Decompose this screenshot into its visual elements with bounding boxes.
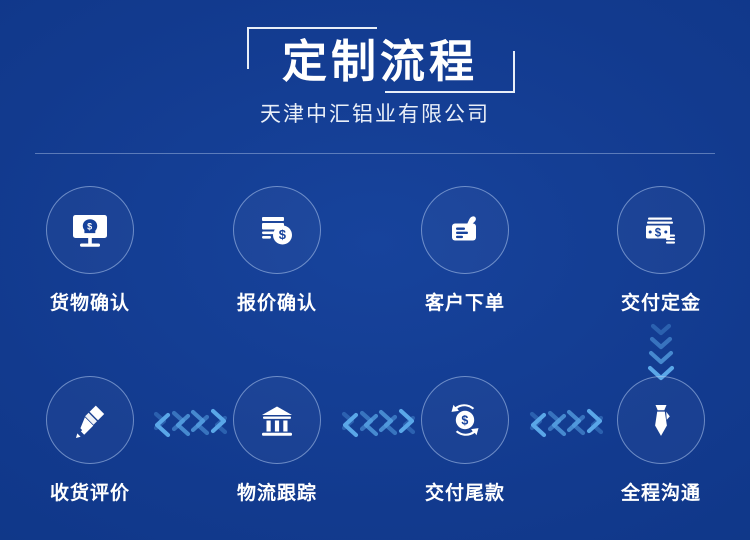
step-icon-circle (421, 186, 509, 274)
monitor-head-dollar-icon: $ (67, 207, 113, 253)
step-label: 物流跟踪 (212, 478, 342, 505)
step-icon-circle: $ (421, 376, 509, 464)
flow-step-deposit-payment[interactable]: $ 交付定金 (596, 186, 726, 316)
step-label: 收货评价 (25, 478, 155, 505)
step-label: 报价确认 (212, 288, 342, 315)
bracket-bottom-right-vertical (513, 51, 515, 93)
connector-chevrons-down (635, 322, 687, 384)
step-icon-circle (617, 376, 705, 464)
step-label: 交付定金 (596, 288, 726, 315)
flow-row-top: $ 货物确认 (0, 186, 750, 316)
header-divider (35, 153, 715, 154)
step-label: 客户下单 (400, 288, 530, 315)
banknotes-coin-dollar-icon: $ (254, 207, 300, 253)
step-label: 全程沟通 (596, 478, 726, 505)
svg-text:$: $ (87, 221, 92, 231)
flow-step-final-payment[interactable]: $ 交付尾款 (400, 376, 530, 506)
svg-text:$: $ (655, 227, 662, 239)
step-label: 交付尾款 (400, 478, 530, 505)
company-name: 天津中汇铝业有限公司 (0, 98, 750, 128)
step-icon-circle: $ (233, 186, 321, 274)
step-icon-circle (46, 376, 134, 464)
flow-step-receipt-review[interactable]: 收货评价 (25, 376, 155, 506)
hand-order-form-icon (442, 207, 488, 253)
flow-step-quote-confirmation[interactable]: $ 报价确认 (212, 186, 342, 316)
bracket-top-left-vertical (247, 27, 249, 69)
cash-stack-dollar-icon: $ (638, 207, 684, 253)
step-icon-circle (233, 376, 321, 464)
svg-text:$: $ (461, 414, 468, 428)
necktie-icon (638, 397, 684, 443)
page-header: 定制流程 天津中汇铝业有限公司 (0, 0, 750, 154)
title-block: 定制流程 (255, 27, 505, 95)
step-icon-circle: $ (617, 186, 705, 274)
flow-step-logistics-tracking[interactable]: 物流跟踪 (212, 376, 342, 506)
flow-row-bottom: 收货评价 (0, 376, 750, 506)
flow-step-goods-confirmation[interactable]: $ 货物确认 (25, 186, 155, 316)
money-transfer-dollar-icon: $ (442, 397, 488, 443)
svg-text:$: $ (279, 227, 287, 242)
fountain-pen-icon (67, 397, 113, 443)
step-icon-circle: $ (46, 186, 134, 274)
step-label: 货物确认 (25, 288, 155, 315)
customization-flow-page: 定制流程 天津中汇铝业有限公司 $ 货物确认 (0, 0, 750, 540)
bank-building-icon (254, 397, 300, 443)
flow-step-customer-order[interactable]: 客户下单 (400, 186, 530, 316)
bracket-bottom-right-horizontal (385, 91, 515, 93)
page-title: 定制流程 (255, 27, 505, 95)
flow-step-full-communication[interactable]: 全程沟通 (596, 376, 726, 506)
